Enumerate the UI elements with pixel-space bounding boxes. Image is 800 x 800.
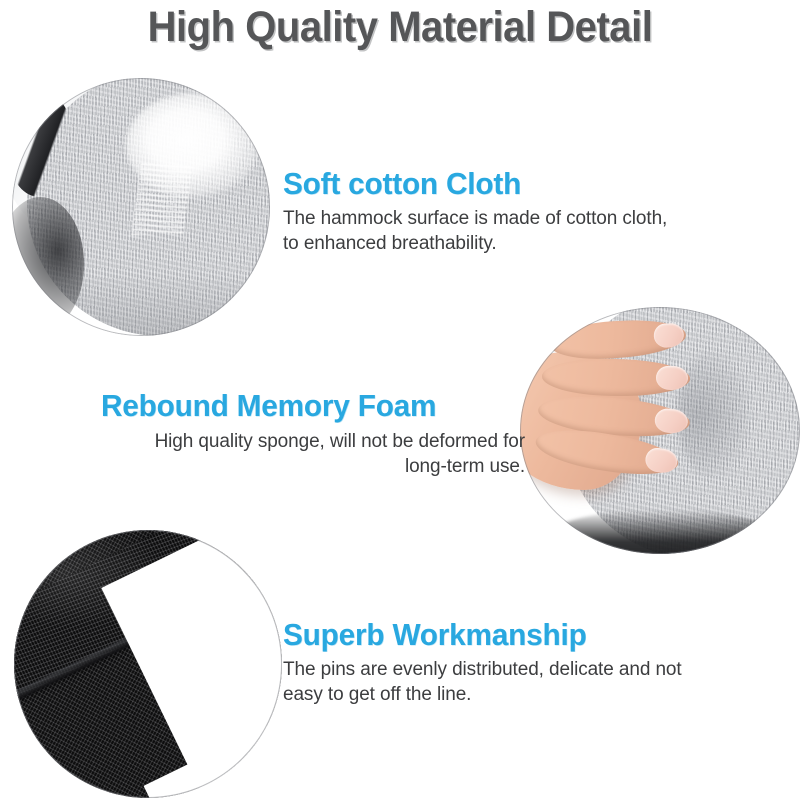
fingernail [643, 446, 678, 475]
foam-indentation [677, 351, 750, 479]
feature-body-rebound-memory-foam: High quality sponge, will not be deforme… [150, 429, 525, 479]
product-detail-infographic: High Quality Material Detail Soft cotton… [0, 0, 800, 800]
page-title: High Quality Material Detail [28, 2, 772, 52]
gray-cotton-cushion-photo [12, 78, 270, 336]
feature-body-superb-workmanship: The pins are evenly distributed, delicat… [283, 657, 688, 707]
hand-pressing-foam-photo [520, 307, 800, 554]
feature-heading-rebound-memory-foam: Rebound Memory Foam [101, 388, 436, 424]
black-woven-stitching-photo [14, 530, 282, 798]
feature-heading-superb-workmanship: Superb Workmanship [283, 617, 587, 653]
fingernail [654, 322, 686, 348]
finger [548, 316, 687, 362]
hand-illustration [520, 317, 682, 510]
feature-body-soft-cotton-cloth: The hammock surface is made of cotton cl… [283, 206, 683, 256]
feature-heading-soft-cotton-cloth: Soft cotton Cloth [283, 166, 521, 202]
softness-glow-rays [131, 163, 193, 235]
